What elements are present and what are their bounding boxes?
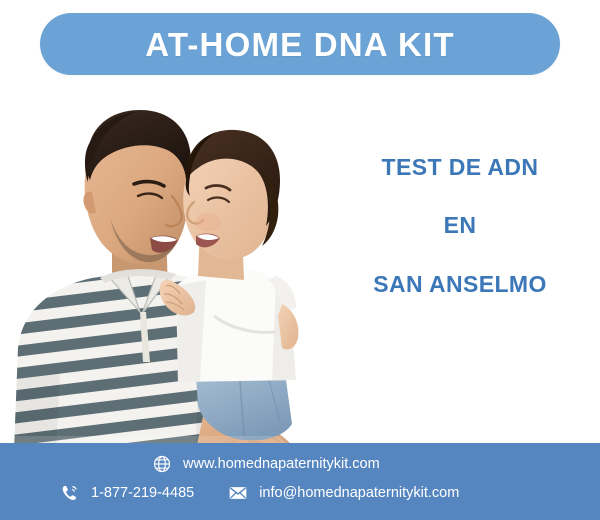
footer-contact-row: 1-877-219-4485 info@homednapaternitykit.… [60, 483, 459, 503]
footer-band: www.homednapaternitykit.com 1-877-219-44… [0, 443, 600, 520]
phone-icon [60, 483, 80, 503]
headline-line-2: EN [320, 213, 600, 238]
hero-photo [0, 80, 340, 450]
email-item[interactable]: info@homednapaternitykit.com [228, 483, 459, 503]
footer-website-row: www.homednapaternitykit.com [152, 454, 380, 474]
envelope-icon [228, 483, 248, 503]
father-and-child-illustration [0, 80, 340, 450]
poster-canvas: AT-HOME DNA KIT [0, 0, 600, 520]
phone-item[interactable]: 1-877-219-4485 [60, 483, 194, 503]
title-pill: AT-HOME DNA KIT [40, 13, 560, 75]
headline-block: TEST DE ADN EN SAN ANSELMO [320, 155, 600, 297]
globe-icon [152, 454, 172, 474]
headline-line-1: TEST DE ADN [320, 155, 600, 180]
headline-line-3: SAN ANSELMO [320, 272, 600, 297]
header-band: AT-HOME DNA KIT [0, 0, 600, 92]
phone-label: 1-877-219-4485 [91, 486, 194, 501]
page-title: AT-HOME DNA KIT [145, 28, 454, 61]
website-label: www.homednapaternitykit.com [183, 457, 380, 472]
website-item[interactable]: www.homednapaternitykit.com [152, 454, 380, 474]
email-label: info@homednapaternitykit.com [259, 486, 459, 501]
